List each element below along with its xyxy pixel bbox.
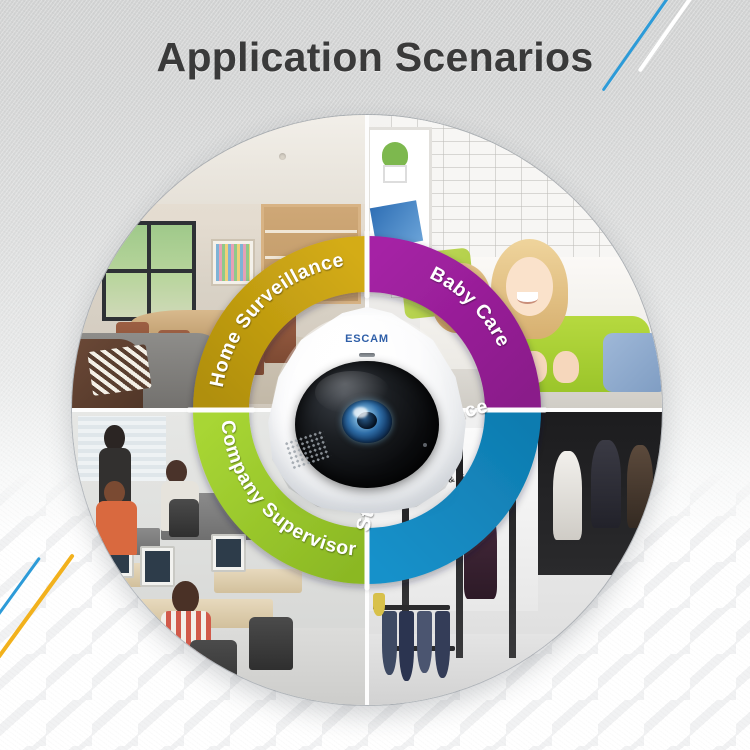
lens-specular-highlight xyxy=(353,407,368,418)
escam-camera-device: ESCAM xyxy=(264,307,470,513)
marketing-page: Application Scenarios xyxy=(0,0,750,750)
scenario-wheel: GUESS & SOUL xyxy=(72,115,662,705)
microphone-hole xyxy=(423,443,427,447)
decor-line-bottom-left-yellow xyxy=(0,553,75,659)
brand-logo: ESCAM xyxy=(264,333,470,345)
camera-lens xyxy=(342,400,391,443)
camera-dome xyxy=(295,361,439,489)
decor-line-bottom-left-blue xyxy=(0,557,41,625)
status-led xyxy=(359,353,375,357)
page-title: Application Scenarios xyxy=(0,34,750,81)
